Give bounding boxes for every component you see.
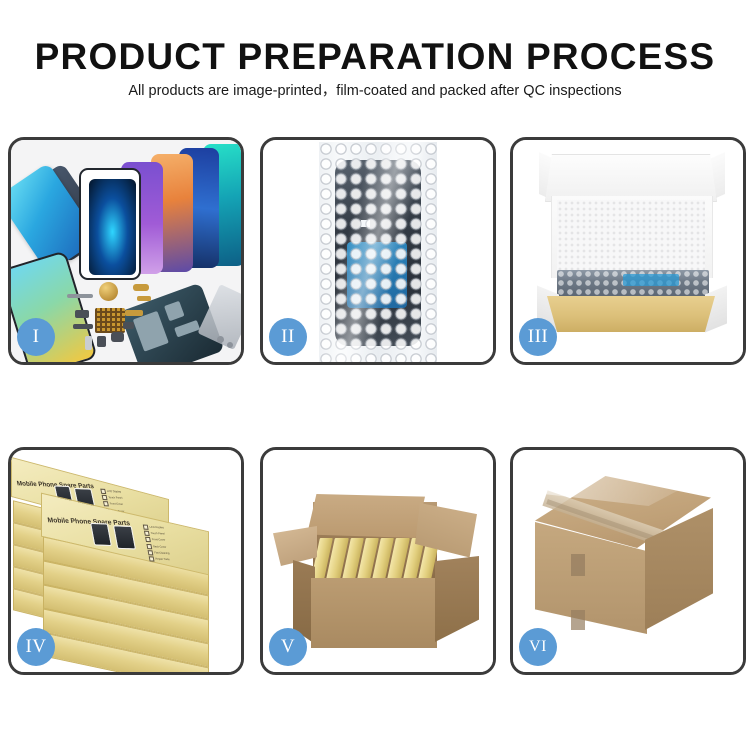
part-flex-cable [125, 310, 143, 316]
carton-seam-upper [571, 554, 585, 576]
step-panel-5: V [260, 447, 496, 675]
checkbox-icon [143, 525, 149, 530]
part-gold-1 [133, 284, 149, 291]
checklist-item: Back Cover [146, 544, 168, 550]
checkbox-icon [103, 501, 109, 506]
product-preparation-infographic: PRODUCT PREPARATION PROCESS All products… [0, 0, 750, 750]
part-small-1 [75, 310, 89, 318]
step-panel-1: I [8, 137, 244, 365]
checkbox-icon [147, 550, 153, 555]
checklist-item: LCD Display [143, 525, 165, 531]
foam-sheet [557, 200, 705, 274]
step-panel-6: VI [510, 447, 746, 675]
step-badge-2: II [269, 318, 307, 356]
step-panel-4: Mobile Phone Spare Parts LCD Display Tou… [8, 447, 244, 675]
carton-front-wall [311, 578, 437, 648]
checklist-item: Flat Cleaning [147, 550, 169, 556]
part-small-2 [73, 324, 93, 329]
screen-glass-icon [79, 168, 141, 280]
part-small-5 [85, 336, 92, 350]
checkbox-icon [145, 537, 151, 542]
step-badge-4: IV [17, 628, 55, 666]
checklist-item: Front Cover [145, 537, 167, 543]
checklist-item: Touch Panel [144, 531, 166, 537]
step-badge-6: VI [519, 628, 557, 666]
checkbox-icon [102, 495, 108, 500]
box-checklist-front: LCD Display Touch Panel Front Cover Back… [143, 525, 171, 563]
page-subtitle: All products are image-printed，film-coat… [0, 84, 750, 99]
checkbox-icon [146, 544, 152, 549]
steps-grid: I II [8, 137, 744, 675]
checklist-item: Front Cover [103, 501, 125, 507]
contents-blue-accent [623, 274, 679, 286]
checkbox-icon [144, 531, 150, 536]
screw-1 [217, 336, 224, 343]
part-gold-2 [137, 296, 151, 301]
checkbox-icon [149, 556, 155, 561]
screen-glass-inner [89, 179, 136, 275]
speaker-coin-icon [99, 282, 118, 301]
checklist-item: Touch Panel [102, 495, 124, 501]
part-small-4 [111, 332, 124, 342]
page-title: PRODUCT PREPARATION PROCESS [0, 38, 750, 75]
box-front-kraft-panel [547, 296, 715, 332]
plastic-sheen [319, 142, 437, 362]
battery-icon [133, 311, 169, 352]
mesh-grid-icon [95, 308, 125, 333]
checkbox-icon [100, 489, 106, 494]
carton-back-flap [307, 494, 425, 538]
part-small-6 [123, 322, 134, 329]
carton-seam-lower [571, 610, 585, 630]
checklist-item: Repair Tools [149, 556, 171, 562]
box-lid-back [545, 154, 717, 202]
step-panel-3: III [510, 137, 746, 365]
board-chip-icon [164, 301, 185, 322]
step-panel-2: II [260, 137, 496, 365]
carton-left-flap [273, 526, 317, 566]
checklist-item: LCD Display [100, 489, 122, 495]
carton-right-wall [435, 556, 479, 642]
board-strip-icon [174, 320, 200, 338]
part-small-3 [97, 336, 106, 347]
box-art-screen-front-2 [113, 525, 136, 549]
part-strip-1 [67, 294, 93, 298]
step-badge-3: III [519, 318, 557, 356]
step-badge-5: V [269, 628, 307, 666]
screw-2 [227, 342, 233, 348]
step-badge-1: I [17, 318, 55, 356]
box-contents-wrapped [557, 270, 709, 300]
